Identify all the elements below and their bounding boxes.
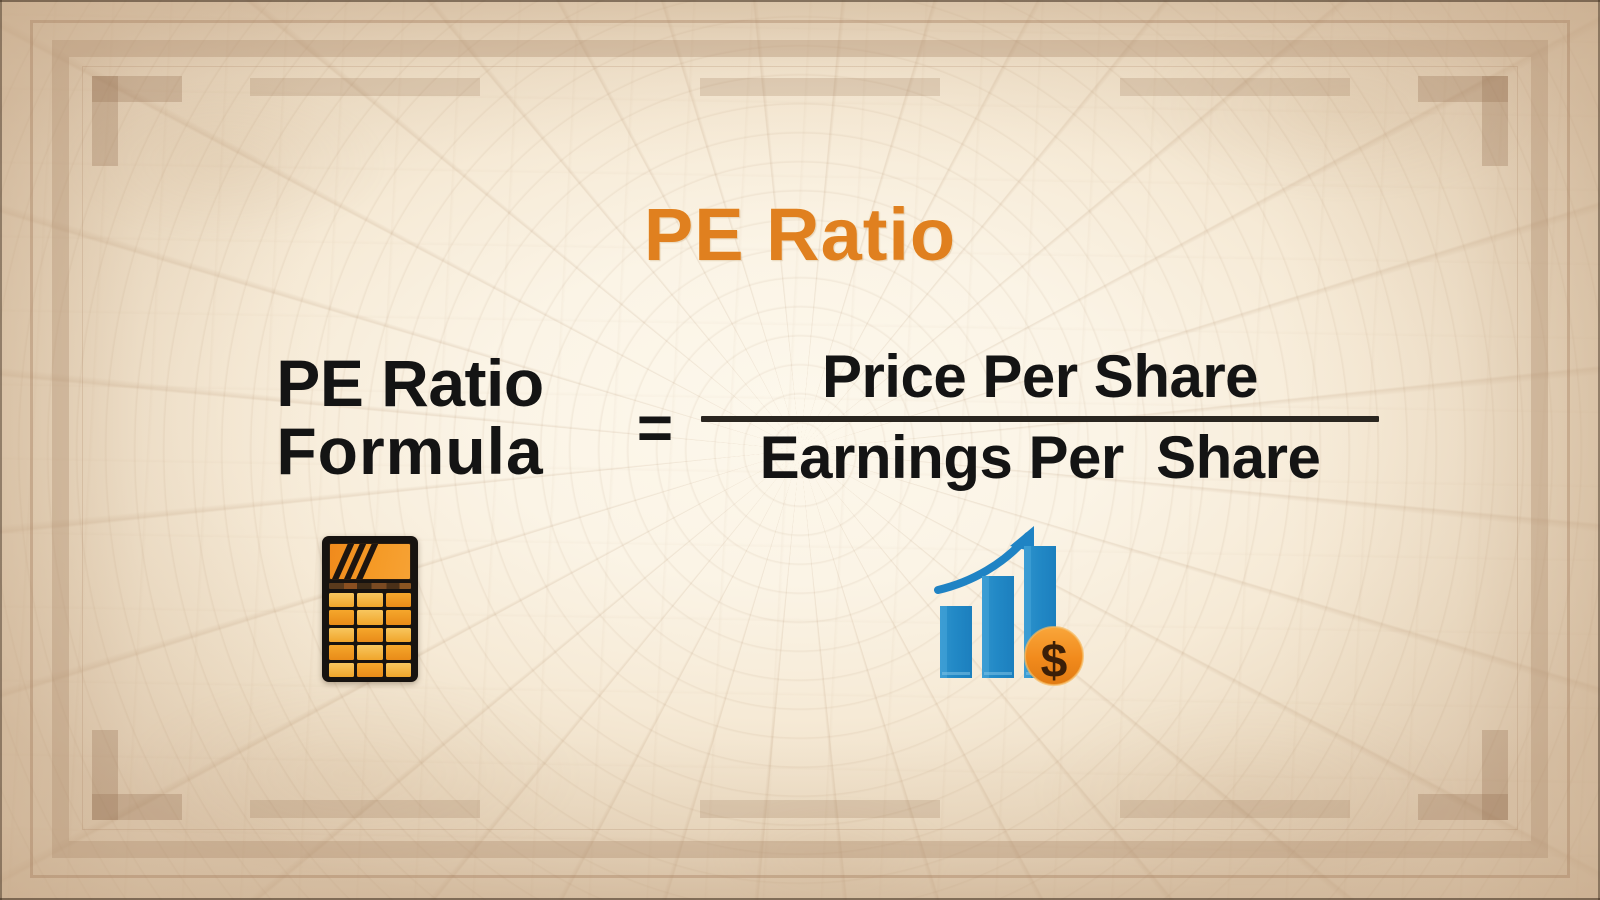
calculator-key	[386, 645, 411, 659]
calculator-key	[357, 645, 382, 659]
calculator-key	[357, 628, 382, 642]
calculator-key	[329, 628, 354, 642]
calculator-key	[357, 610, 382, 624]
calculator-key	[329, 593, 354, 607]
calculator-display	[329, 543, 411, 580]
slide-title: PE Ratio	[0, 192, 1600, 277]
growth-chart-icon: $	[930, 512, 1095, 688]
slide-content: PE Ratio PE Ratio Formula = Price Per Sh…	[0, 0, 1600, 900]
fraction-numerator: Price Per Share	[690, 345, 1390, 410]
fraction-denominator: Earnings Per Share	[690, 426, 1390, 491]
calculator-key	[329, 610, 354, 624]
calculator-key	[386, 593, 411, 607]
formula-equation: PE Ratio Formula = Price Per Share Earni…	[0, 328, 1600, 508]
formula-left-label: PE Ratio Formula	[210, 350, 610, 486]
calculator-key	[386, 663, 411, 677]
equals-sign: =	[620, 393, 690, 464]
chart-bar-1-highlight	[940, 606, 947, 678]
calculator-keypad	[329, 593, 411, 677]
calculator-icon	[322, 536, 418, 682]
calculator-key	[329, 645, 354, 659]
formula-label-line2: Formula	[210, 418, 610, 486]
fraction-bar	[701, 416, 1379, 422]
calculator-key	[357, 663, 382, 677]
calculator-key	[386, 628, 411, 642]
calculator-key	[386, 610, 411, 624]
formula-fraction: Price Per Share Earnings Per Share	[690, 345, 1390, 491]
slide-canvas: PE Ratio PE Ratio Formula = Price Per Sh…	[0, 0, 1600, 900]
dollar-symbol: $	[1041, 635, 1068, 688]
calculator-key	[329, 663, 354, 677]
chart-bar-2-highlight	[982, 576, 989, 678]
calculator-key	[357, 593, 382, 607]
formula-label-line1: PE Ratio	[210, 350, 610, 418]
calculator-function-strip	[329, 583, 411, 589]
